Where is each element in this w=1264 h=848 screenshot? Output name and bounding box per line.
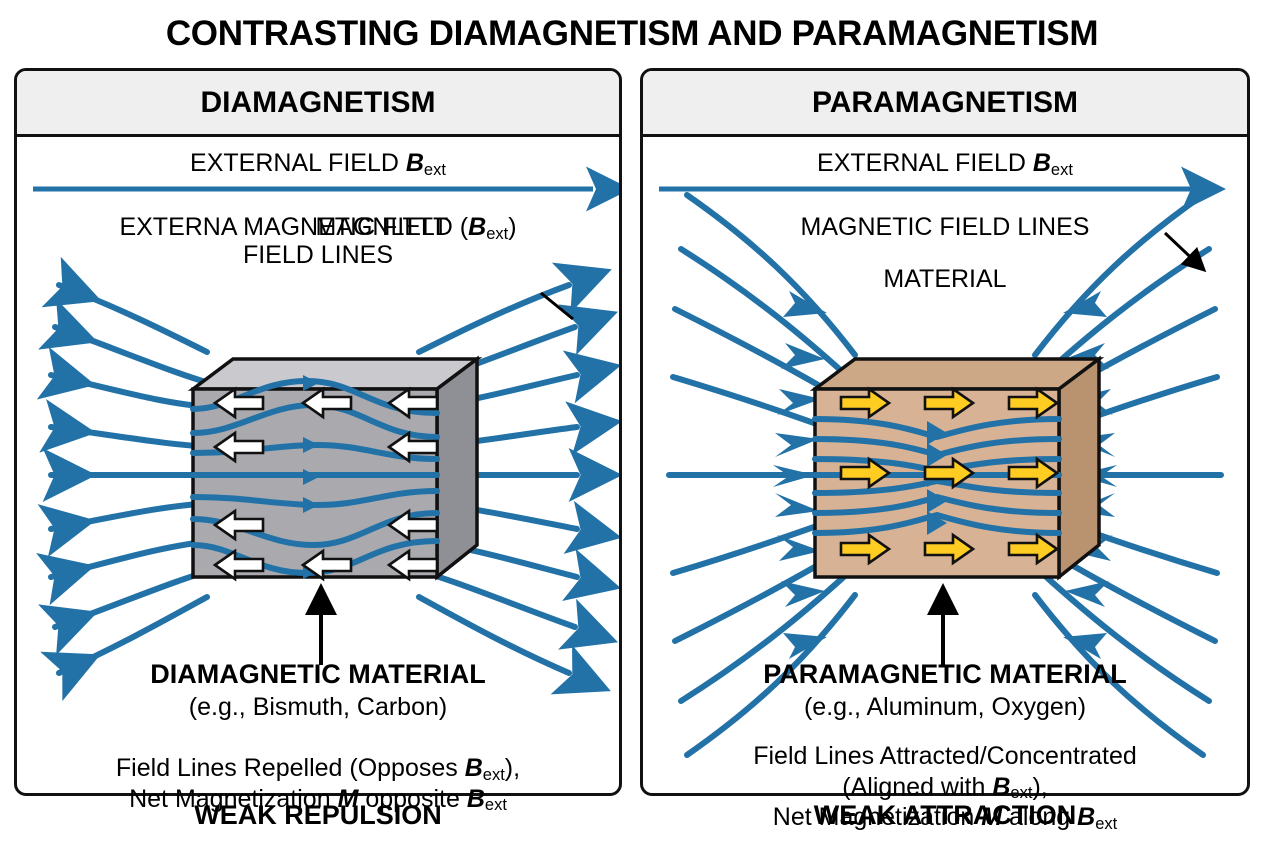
external-field-label: EXTERNAL FIELD Bext xyxy=(643,149,1247,177)
field-line xyxy=(55,327,223,387)
footer-paramagnetism: WEAK ATTRACTION xyxy=(640,800,1250,831)
field-lines-label: MAGNETIC FIELD LINES xyxy=(643,213,1247,241)
field-lines-label-overlap: MAGNLTTT xyxy=(315,213,448,241)
field-lines-label-line2: FIELD LINES xyxy=(243,241,393,269)
panel-diamagnetism: DIAMAGNETISM xyxy=(14,68,622,796)
block-front-face xyxy=(193,389,437,577)
material-title: DIAMAGNETIC MATERIAL xyxy=(17,659,619,689)
page-title: CONTRASTING DIAMAGNETISM AND PARAMAGNETI… xyxy=(0,14,1264,54)
material-title: PARAMAGNETIC MATERIAL xyxy=(643,659,1247,689)
block-side-face xyxy=(1059,359,1099,577)
material-label: MATERIAL xyxy=(643,265,1247,293)
field-line xyxy=(59,285,207,352)
field-line xyxy=(51,541,213,577)
field-line xyxy=(51,375,213,407)
block-side-face xyxy=(437,359,477,577)
material-examples: (e.g., Bismuth, Carbon) xyxy=(17,693,619,721)
material-examples: (e.g., Aluminum, Oxygen) xyxy=(643,693,1247,721)
panel-header-paramagnetism: PARAMAGNETISM xyxy=(643,71,1247,137)
footer-diamagnetism: WEAK REPULSION xyxy=(14,800,622,831)
field-line xyxy=(51,503,213,529)
block-top-face xyxy=(815,359,1099,389)
field-line xyxy=(419,285,569,352)
panel-body-diamagnetism: EXTERNAL FIELD Bext EXTERNA MAGNETIC FIE… xyxy=(17,137,619,796)
field-lines-label-line1: EXTERNA MAGNETIC FIELD (Bext)MAGNLTTT xyxy=(119,213,516,241)
panel-header-diamagnetism: DIAMAGNETISM xyxy=(17,71,619,137)
panel-paramagnetism: PARAMAGNETISM xyxy=(640,68,1250,796)
external-field-label: EXTERNAL FIELD Bext xyxy=(17,149,619,177)
field-lines-label: EXTERNA MAGNETIC FIELD (Bext)MAGNLTTT FI… xyxy=(17,213,619,269)
field-line xyxy=(51,427,213,447)
field-lines-leader xyxy=(541,293,573,319)
panel-body-paramagnetism: EXTERNAL FIELD Bext MAGNETIC FIELD LINES… xyxy=(643,137,1247,796)
